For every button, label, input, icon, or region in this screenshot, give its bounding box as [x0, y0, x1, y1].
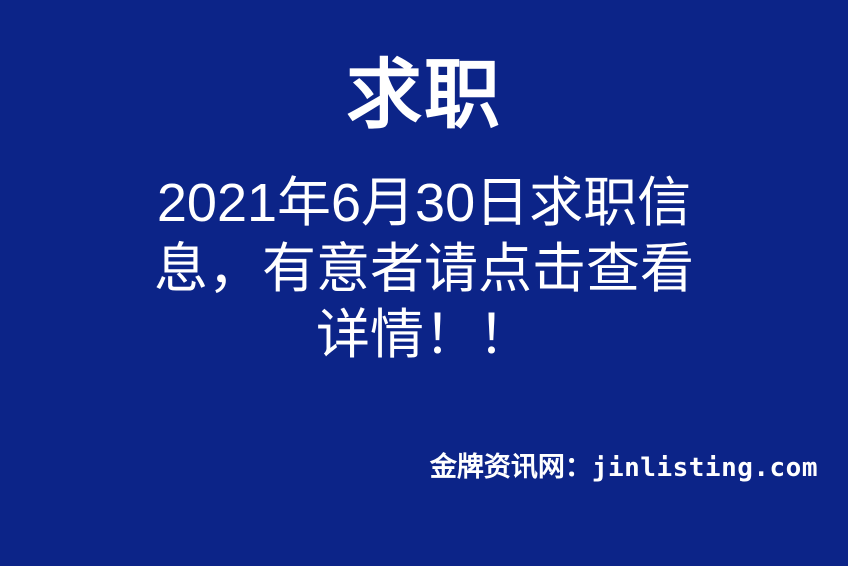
site-name-label: 金牌资讯网： [430, 452, 592, 482]
page-title: 求职 [346, 52, 502, 140]
message-line-1: 2021年6月30日求职信 [0, 170, 848, 236]
message-line-3: 详情！！ [0, 302, 848, 368]
message-line-2: 息，有意者请点击查看 [0, 236, 848, 302]
site-watermark: 金牌资讯网：jinlisting.com [430, 450, 818, 485]
site-domain-label: jinlisting.com [592, 453, 818, 483]
banner-title-block: 求职 [0, 52, 848, 140]
job-posting-banner: 求职 2021年6月30日求职信 息，有意者请点击查看 详情！！ 金牌资讯网：j… [0, 0, 848, 566]
banner-message-block: 2021年6月30日求职信 息，有意者请点击查看 详情！！ [0, 170, 848, 368]
